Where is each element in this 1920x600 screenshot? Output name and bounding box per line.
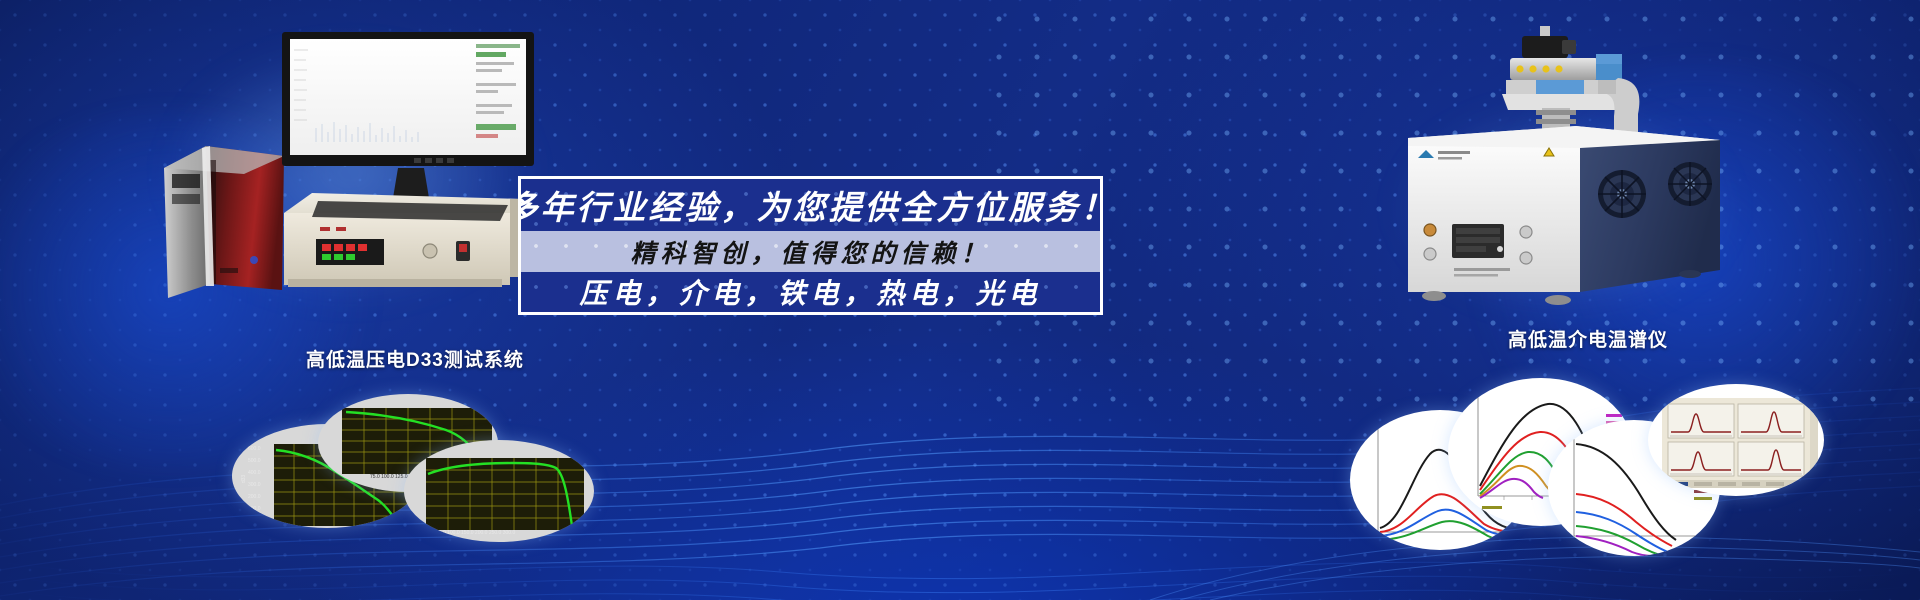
- promo-message-box: 多年行业经验，为您提供全方位服务！ 精科智创，值得您的信赖！ 压电，介电，铁电，…: [518, 176, 1103, 315]
- pc-tower-icon: [158, 108, 298, 308]
- product-left-image: [150, 28, 550, 318]
- promo-line-1: 多年行业经验，为您提供全方位服务！: [521, 179, 1100, 231]
- promo-line-3-text: 压电，介电，铁电，热电，光电: [579, 272, 1041, 312]
- product-right-label: 高低温介电温谱仪: [1508, 325, 1668, 352]
- promo-line-2: 精科智创，值得您的信赖！: [521, 231, 1100, 272]
- promo-line-3: 压电，介电，铁电，热电，光电: [521, 272, 1100, 312]
- chart-oval-left-3: 50.0 100.0 150.0 200.0 250.0 300.0: [404, 440, 594, 542]
- promo-line-1-text: 多年行业经验，为您提供全方位服务！: [521, 181, 1100, 229]
- product-right-image: [1390, 18, 1740, 308]
- product-left-label: 高低温压电D33测试系统: [306, 345, 524, 372]
- promo-line-2-text: 精科智创，值得您的信赖！: [630, 234, 990, 270]
- controller-unit-icon: [278, 183, 528, 303]
- promo-banner: 高低温压电D33测试系统 600.0 500.0 400.0 300.0 200…: [0, 0, 1920, 600]
- chart-oval-right-4: [1648, 384, 1824, 496]
- chamber-unit-icon: [1390, 18, 1740, 308]
